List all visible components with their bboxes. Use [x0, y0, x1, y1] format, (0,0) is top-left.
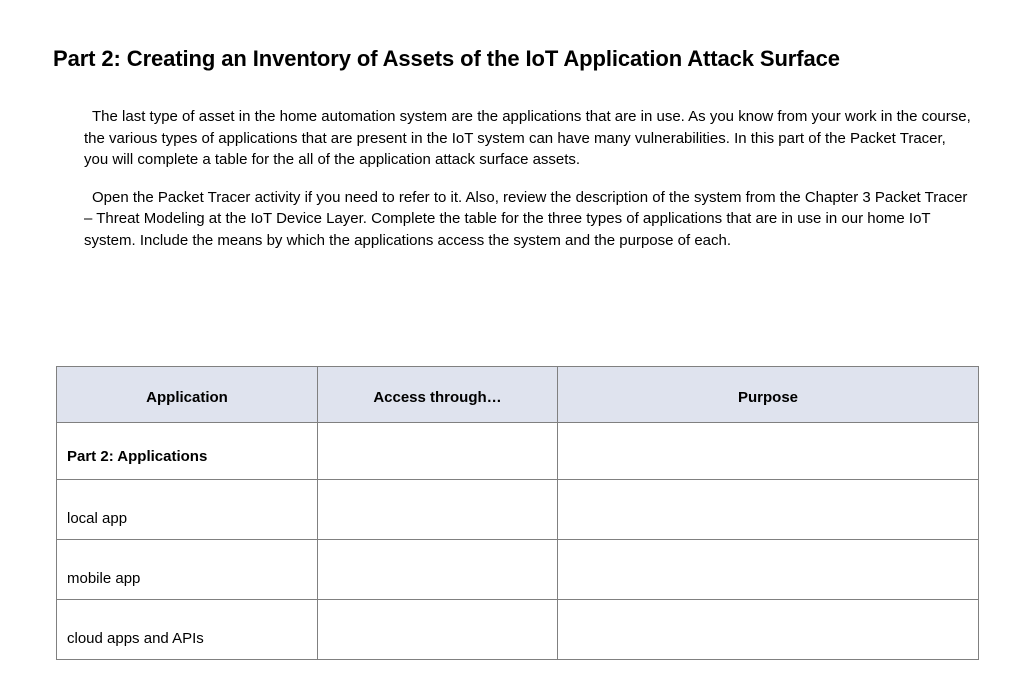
- column-header-application: Application: [57, 367, 318, 423]
- page-title: Part 2: Creating an Inventory of Assets …: [53, 42, 1024, 76]
- cell-access-through[interactable]: [318, 540, 558, 600]
- cell-purpose[interactable]: [558, 480, 979, 540]
- paragraph-2: Open the Packet Tracer activity if you n…: [84, 187, 974, 252]
- cell-access-through[interactable]: [318, 600, 558, 660]
- table-row: cloud apps and APIs: [57, 600, 979, 660]
- column-header-access-through: Access through…: [318, 367, 558, 423]
- cell-access-through[interactable]: [318, 423, 558, 480]
- cell-application: Part 2: Applications: [57, 423, 318, 480]
- column-header-purpose: Purpose: [558, 367, 979, 423]
- table-header-row: Application Access through… Purpose: [57, 367, 979, 423]
- table-row: mobile app: [57, 540, 979, 600]
- cell-application: cloud apps and APIs: [57, 600, 318, 660]
- table-row: local app: [57, 480, 979, 540]
- cell-purpose[interactable]: [558, 600, 979, 660]
- body-text-block: The last type of asset in the home autom…: [84, 106, 974, 251]
- cell-access-through[interactable]: [318, 480, 558, 540]
- cell-application: mobile app: [57, 540, 318, 600]
- cell-purpose[interactable]: [558, 423, 979, 480]
- table-row: Part 2: Applications: [57, 423, 979, 480]
- paragraph-1: The last type of asset in the home autom…: [84, 106, 974, 171]
- cell-purpose[interactable]: [558, 540, 979, 600]
- application-assets-table: Application Access through… Purpose Part…: [56, 366, 979, 660]
- cell-application: local app: [57, 480, 318, 540]
- document-page: Part 2: Creating an Inventory of Assets …: [0, 0, 1024, 699]
